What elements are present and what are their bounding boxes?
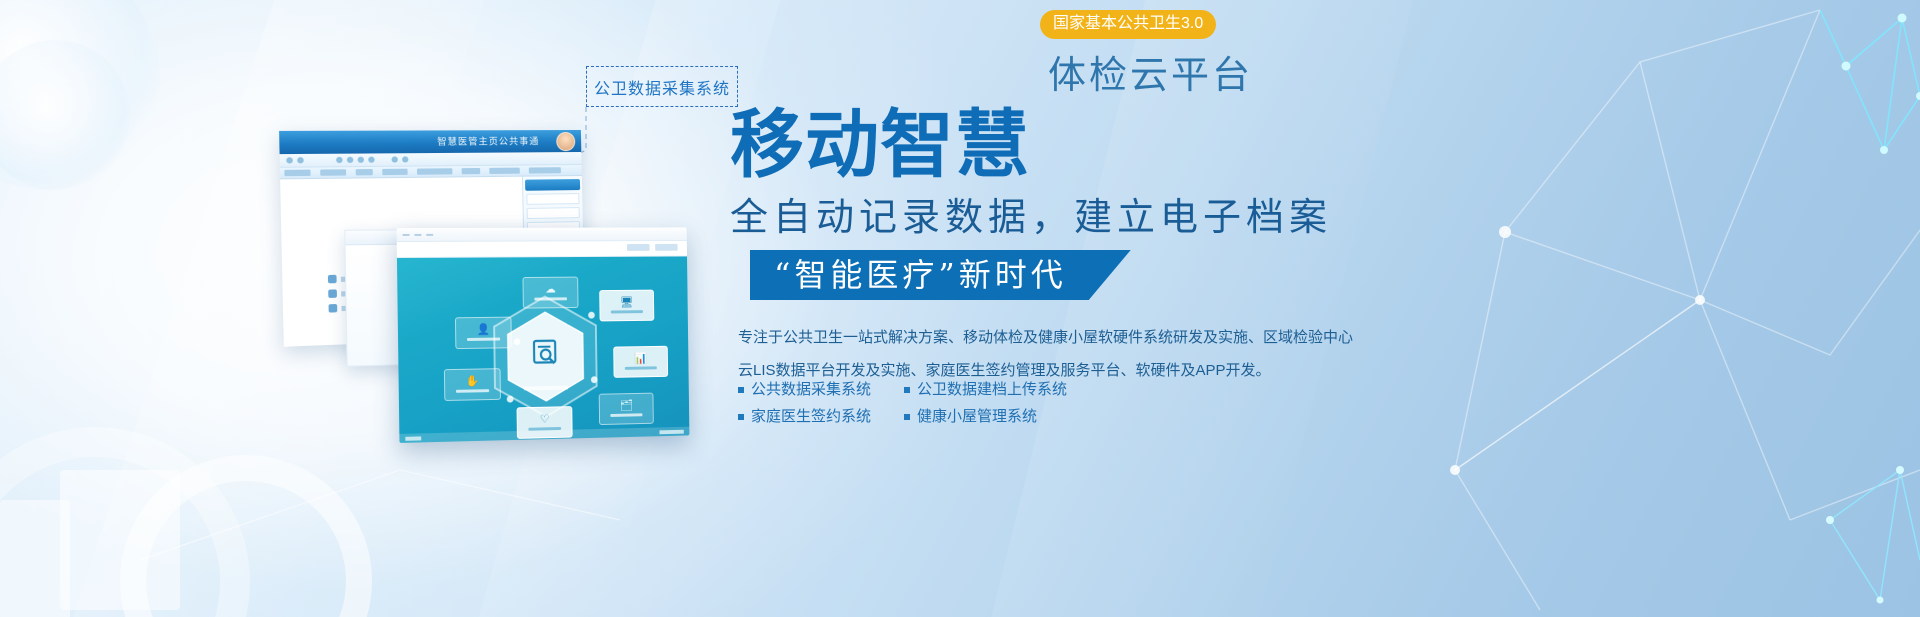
list-item[interactable]: 公卫数据建档上传系统 (904, 381, 1124, 399)
folder-icon: 🗂 (620, 401, 633, 412)
heart-icon: ♡ (540, 414, 550, 425)
hand-icon: ✋ (466, 376, 480, 387)
decorative-ring-two (0, 427, 250, 617)
headline-primary-row: 移动智慧 (730, 108, 1030, 182)
mockup-window-front: ☁ 🖥 👤 📊 ✋ 🗂 ♡ (397, 227, 690, 443)
slogan-text: “智能医疗”新时代 (774, 258, 1067, 292)
dashboard-card-1: ☁ (522, 277, 578, 309)
mockup-title-text: 智慧医管主页公共事通 (437, 134, 539, 148)
feature-label: 健康小屋管理系统 (917, 408, 1037, 426)
user-icon: 👤 (477, 325, 490, 336)
callout-label: 公卫数据采集系统 (594, 75, 730, 99)
slogan-ribbon: “智能医疗”新时代 (750, 250, 1131, 300)
bullet-square-icon (904, 414, 910, 420)
feature-label: 家庭医生签约系统 (751, 408, 871, 426)
slogan-ribbon-body: “智能医疗”新时代 (750, 250, 1089, 300)
chart-icon: 📊 (634, 354, 647, 365)
callout-badge: 公卫数据采集系统 (586, 66, 738, 107)
dashboard-card-3: 👤 (455, 317, 512, 349)
corner-glow-small (0, 40, 130, 190)
decorative-ring-one (120, 455, 372, 617)
dashboard-card-4: 📊 (613, 346, 668, 378)
cloud-icon: ☁ (545, 285, 556, 296)
slogan-ribbon-tail (1089, 250, 1131, 300)
description-line-2: 云LIS数据平台开发及实施、家庭医生签约管理及服务平台、软硬件及APP开发。 (738, 358, 1338, 383)
list-item[interactable]: 公共数据采集系统 (738, 381, 898, 399)
mockup-front-nav (397, 241, 687, 258)
dashboard-hub (515, 326, 575, 380)
feature-label: 公共数据采集系统 (751, 381, 871, 399)
headline-main: 移动智慧 (730, 108, 1030, 182)
list-item[interactable]: 家庭医生签约系统 (738, 408, 898, 426)
bullet-square-icon (738, 414, 744, 420)
feature-label: 公卫数据建档上传系统 (917, 381, 1067, 399)
dashboard-card-6: 🗂 (599, 393, 654, 425)
status-badge: 国家基本公共卫生3.0 (1040, 10, 1216, 39)
dashboard-card-5: ✋ (444, 368, 501, 401)
list-item[interactable]: 健康小屋管理系统 (904, 408, 1124, 426)
headline-secondary: 全自动记录数据，建立电子档案 (730, 196, 1332, 238)
mockup-dashboard-canvas: ☁ 🖥 👤 📊 ✋ 🗂 ♡ (397, 256, 689, 443)
bullet-square-icon (738, 387, 744, 393)
banner-content: 移动智慧 国家基本公共卫生3.0 体检云平台 全自动记录数据，建立电子档案 “智… (730, 0, 1910, 617)
mockup-avatar-icon (556, 132, 575, 151)
document-search-icon (531, 339, 560, 367)
mockup-front-chrome (397, 227, 687, 242)
description-line-1: 专注于公共卫生一站式解决方案、移动体检及健康小屋软硬件系统研发及实施、区域检验中… (738, 325, 1338, 350)
corner-glow-large (0, 0, 160, 190)
feature-list: 公共数据采集系统 公卫数据建档上传系统 家庭医生签约系统 健康小屋管理系统 (738, 381, 1158, 426)
mockup-title-bar: 智慧医管主页公共事通 (279, 130, 581, 154)
promo-banner: 智慧医管主页公共事通 (0, 0, 1920, 617)
monitor-icon: 🖥 (620, 298, 633, 309)
dashboard-card-2: 🖥 (599, 290, 654, 322)
headline-sub: 体检云平台 (1048, 55, 1253, 95)
bullet-square-icon (904, 387, 910, 393)
